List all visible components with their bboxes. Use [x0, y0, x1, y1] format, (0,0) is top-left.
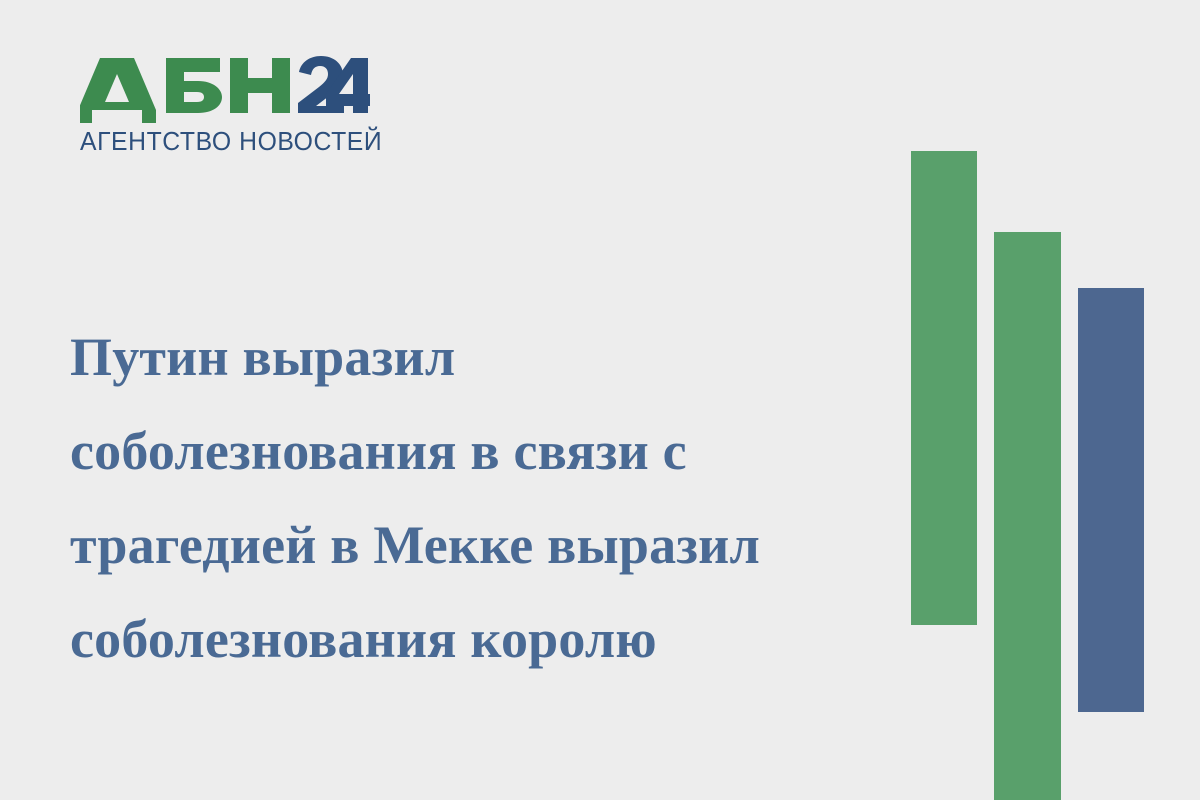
headline-line-2: соболезнования в связи с: [70, 404, 870, 498]
headline: Путин выразил соболезнования в связи с т…: [70, 310, 870, 686]
headline-line-1: Путин выразил: [70, 310, 870, 404]
logo-wordmark-icon: [80, 56, 370, 124]
chart-bar-3: [1078, 288, 1144, 712]
site-logo[interactable]: АГЕНТСТВО НОВОСТЕЙ: [80, 56, 380, 157]
news-card: АГЕНТСТВО НОВОСТЕЙ Путин выразил соболез…: [0, 0, 1200, 800]
logo-tagline: АГЕНТСТВО НОВОСТЕЙ: [80, 128, 371, 157]
headline-line-3: трагедией в Мекке выразил: [70, 498, 870, 592]
headline-line-4: соболезнования королю: [70, 592, 870, 686]
chart-bar-1: [911, 151, 977, 625]
chart-bar-2: [994, 232, 1061, 800]
logo-wordmark: [80, 56, 380, 124]
